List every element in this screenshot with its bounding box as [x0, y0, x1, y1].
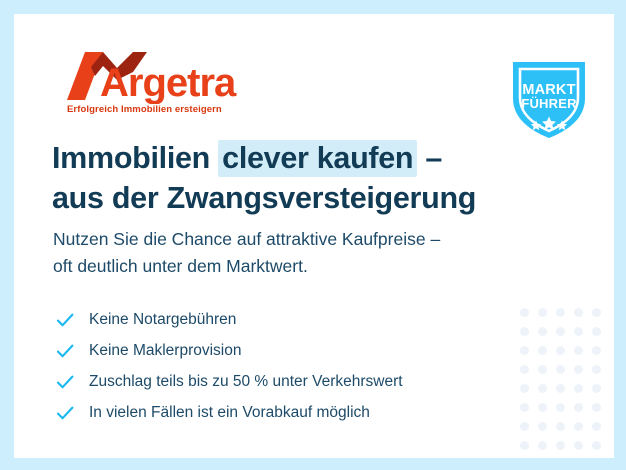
decorative-dot: [574, 346, 583, 355]
argetra-logo[interactable]: Argetra Erfolgreich Immobilien ersteiger…: [55, 46, 245, 126]
decorative-dot: [574, 365, 583, 374]
list-item-label: Zuschlag teils bis zu 50 % unter Verkehr…: [89, 374, 403, 390]
banner-frame: Argetra Erfolgreich Immobilien ersteiger…: [0, 0, 626, 470]
decorative-dot: [574, 327, 583, 336]
decorative-dot: [520, 422, 529, 431]
headline-highlight: clever kaufen: [218, 140, 417, 177]
decorative-dot: [556, 365, 565, 374]
decorative-dot: [556, 403, 565, 412]
svg-text:FÜHRER: FÜHRER: [521, 96, 577, 111]
decorative-dot: [556, 384, 565, 393]
decorative-dot: [538, 403, 547, 412]
subtitle: Nutzen Sie die Chance auf attraktive Kau…: [53, 226, 440, 279]
decorative-dot: [520, 346, 529, 355]
decorative-dot: [538, 441, 547, 450]
decorative-dot: [592, 384, 601, 393]
list-item: Zuschlag teils bis zu 50 % unter Verkehr…: [54, 366, 403, 397]
markt-fuehrer-badge: MARKT FÜHRER: [503, 50, 595, 142]
list-item: Keine Notargebühren: [54, 304, 403, 335]
decorative-dot: [574, 422, 583, 431]
decorative-dot: [556, 327, 565, 336]
subtitle-line-1: Nutzen Sie die Chance auf attraktive Kau…: [53, 229, 440, 249]
decorative-dot: [574, 441, 583, 450]
decorative-dot: [538, 384, 547, 393]
decorative-dot: [538, 308, 547, 317]
decorative-dot: [592, 308, 601, 317]
decorative-dot: [556, 422, 565, 431]
decorative-dot: [592, 346, 601, 355]
decorative-dot: [556, 308, 565, 317]
decorative-dot: [556, 346, 565, 355]
decorative-dot: [520, 441, 529, 450]
decorative-dot: [592, 403, 601, 412]
benefits-list: Keine NotargebührenKeine Maklerprovision…: [54, 304, 403, 428]
check-icon: [54, 309, 76, 331]
headline-line-1: Immobilien clever kaufen –: [52, 140, 442, 177]
svg-text:Argetra: Argetra: [100, 61, 237, 104]
decorative-dot: [556, 441, 565, 450]
list-item-label: Keine Maklerprovision: [89, 343, 242, 359]
decorative-dot: [520, 365, 529, 374]
list-item: In vielen Fällen ist ein Vorabkauf mögli…: [54, 397, 403, 428]
logo-tagline: Erfolgreich Immobilien ersteigern: [67, 104, 222, 115]
decorative-dot-grid: [515, 303, 605, 455]
decorative-dot: [520, 327, 529, 336]
check-icon: [54, 340, 76, 362]
headline-text-before: Immobilien: [52, 141, 218, 175]
decorative-dot: [520, 403, 529, 412]
decorative-dot: [538, 346, 547, 355]
decorative-dot: [538, 327, 547, 336]
list-item-label: Keine Notargebühren: [89, 312, 236, 328]
decorative-dot: [538, 422, 547, 431]
decorative-dot: [574, 403, 583, 412]
decorative-dot: [520, 308, 529, 317]
check-icon: [54, 402, 76, 424]
decorative-dot: [574, 384, 583, 393]
decorative-dot: [592, 327, 601, 336]
page-title: Immobilien clever kaufen – aus der Zwang…: [52, 138, 476, 219]
list-item-label: In vielen Fällen ist ein Vorabkauf mögli…: [89, 405, 370, 421]
headline-line-2: aus der Zwangsversteigerung: [52, 181, 476, 215]
decorative-dot: [538, 365, 547, 374]
list-item: Keine Maklerprovision: [54, 335, 403, 366]
decorative-dot: [592, 441, 601, 450]
check-icon: [54, 371, 76, 393]
subtitle-line-2: oft deutlich unter dem Marktwert.: [53, 256, 308, 276]
decorative-dot: [592, 365, 601, 374]
headline-text-after: –: [417, 141, 442, 175]
banner-card: Argetra Erfolgreich Immobilien ersteiger…: [14, 14, 614, 458]
decorative-dot: [520, 384, 529, 393]
decorative-dot: [574, 308, 583, 317]
decorative-dot: [592, 422, 601, 431]
